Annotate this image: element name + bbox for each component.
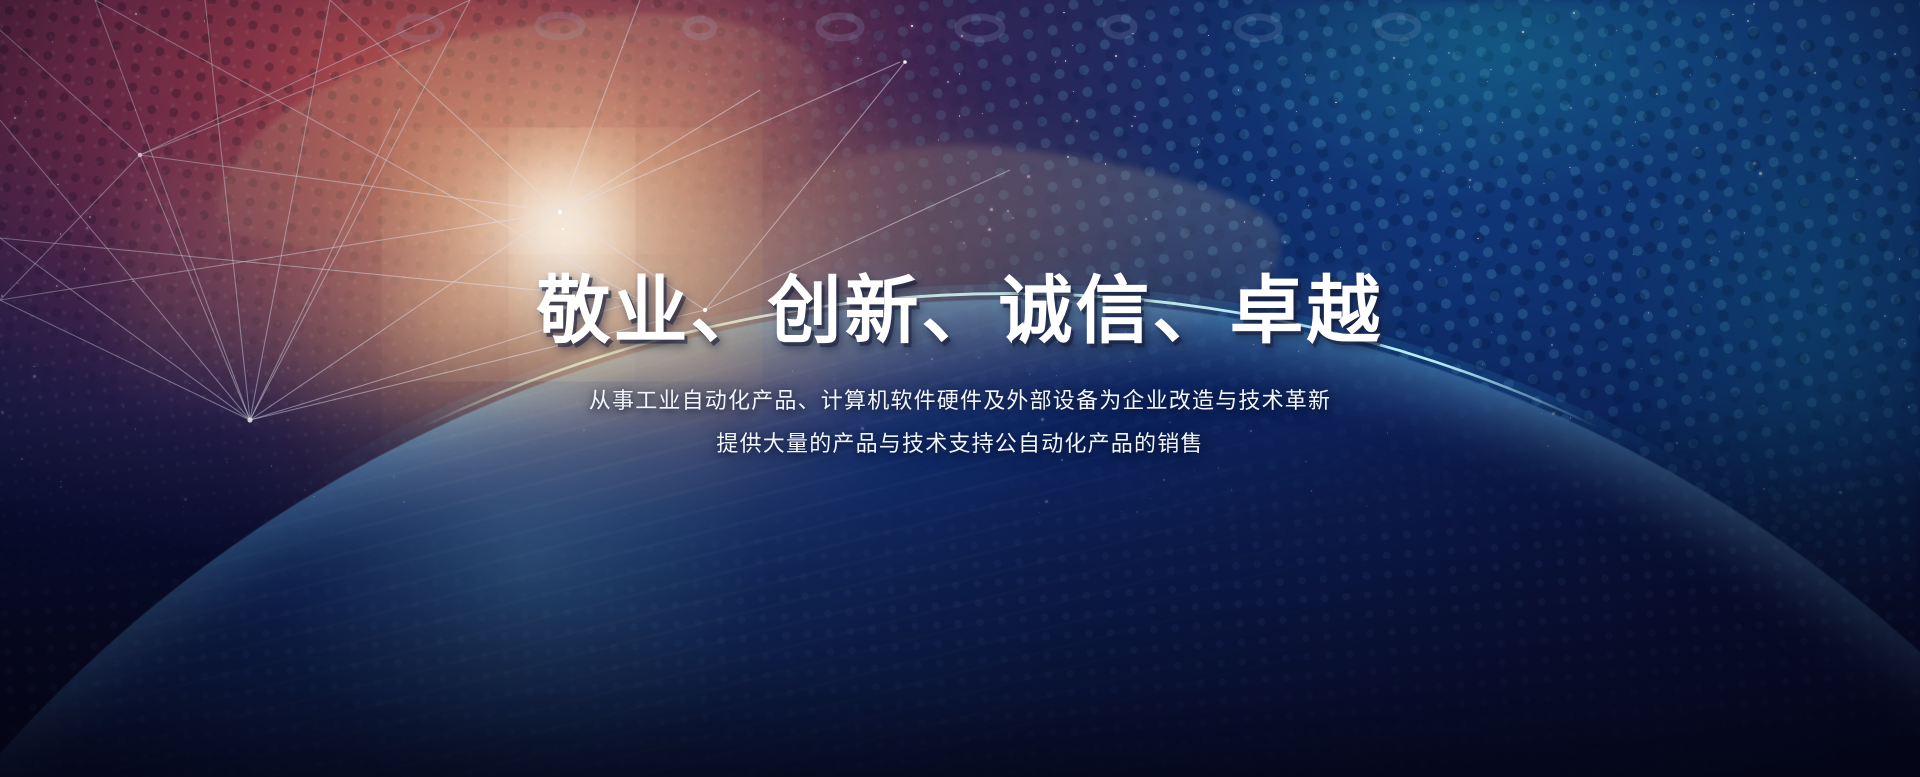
hero-banner: 敬业、创新、诚信、卓越 从事工业自动化产品、计算机软件硬件及外部设备为企业改造与…: [0, 0, 1920, 777]
banner-content: 敬业、创新、诚信、卓越 从事工业自动化产品、计算机软件硬件及外部设备为企业改造与…: [0, 0, 1920, 777]
subtitle-line-2: 提供大量的产品与技术支持公自动化产品的销售: [589, 423, 1331, 466]
page-title: 敬业、创新、诚信、卓越: [537, 272, 1384, 350]
subtitle-line-1: 从事工业自动化产品、计算机软件硬件及外部设备为企业改造与技术革新: [589, 380, 1331, 423]
banner-subtitle: 从事工业自动化产品、计算机软件硬件及外部设备为企业改造与技术革新 提供大量的产品…: [589, 380, 1331, 466]
